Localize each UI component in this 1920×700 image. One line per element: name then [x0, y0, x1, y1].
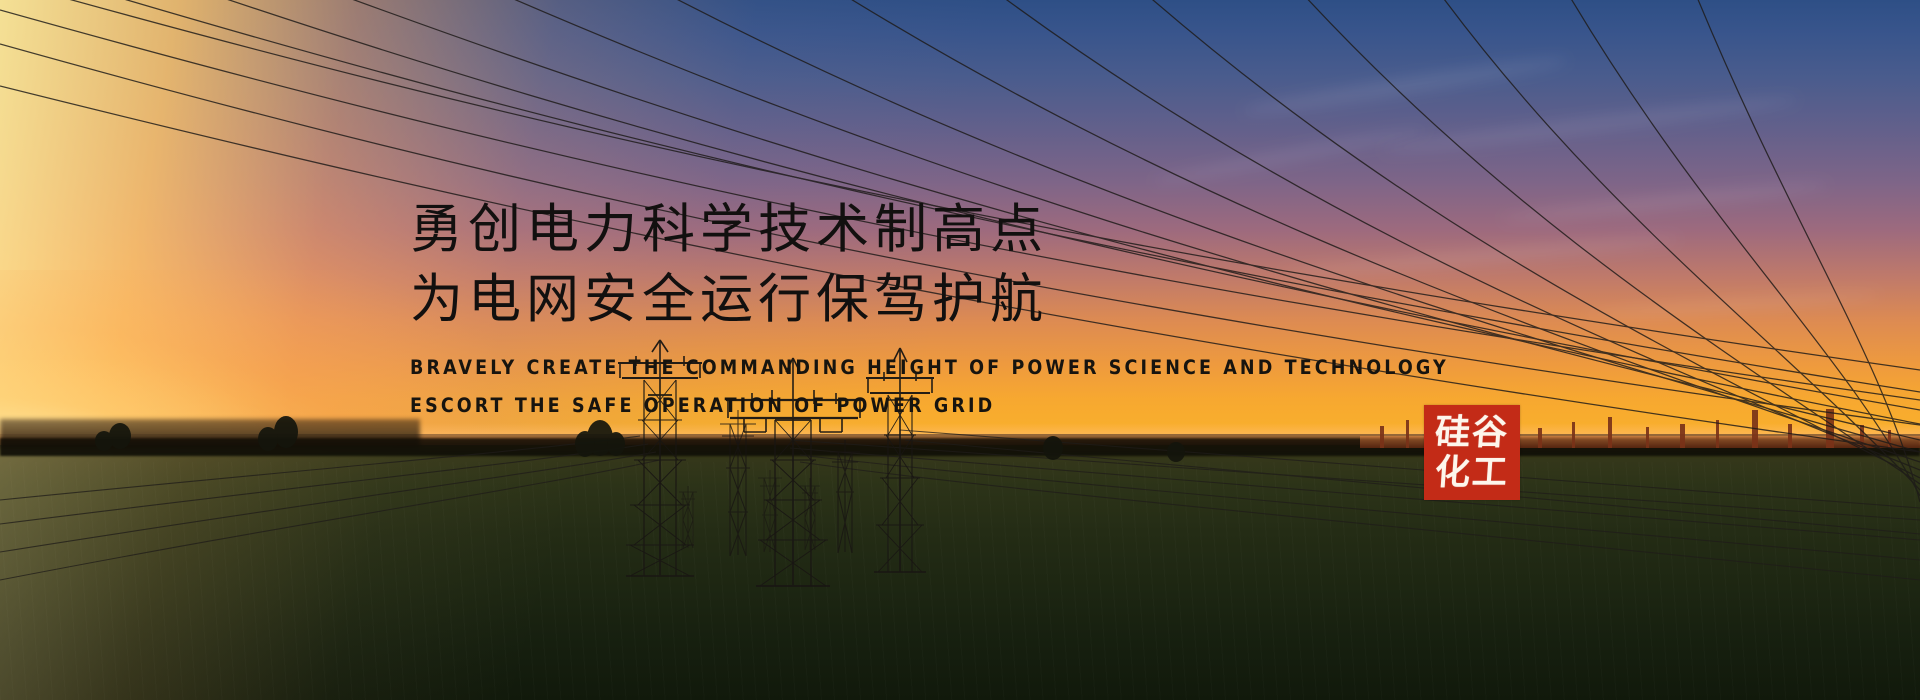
company-seal-logo: 硅谷 化工: [1424, 405, 1520, 500]
refinery-stack: [1608, 417, 1612, 448]
refinery-stack: [1572, 422, 1575, 448]
seal-text-line-1: 硅谷: [1434, 413, 1511, 453]
refinery-stack: [1788, 424, 1792, 448]
headline-cn-line-1: 勇创电力科学技术制高点: [410, 195, 1530, 265]
headline-copy: 勇创电力科学技术制高点 为电网安全运行保驾护航 BRAVELY CREATE T…: [410, 195, 1530, 425]
refinery-stack: [1752, 410, 1758, 448]
hero-banner: 勇创电力科学技术制高点 为电网安全运行保驾护航 BRAVELY CREATE T…: [0, 0, 1920, 700]
refinery-stack: [1888, 430, 1891, 448]
refinery-stack: [1716, 420, 1719, 448]
headline-cn-line-2: 为电网安全运行保驾护航: [410, 265, 1530, 335]
seal-text-line-2: 化工: [1434, 453, 1511, 493]
refinery-stack: [1538, 428, 1542, 448]
refinery-stack: [1646, 427, 1649, 448]
subhead-en-line-2: ESCORT THE SAFE OPERATION OF POWER GRID: [410, 387, 1530, 425]
refinery-stack: [1826, 409, 1834, 448]
subhead-block: BRAVELY CREATE THE COMMANDING HEIGHT OF …: [410, 349, 1530, 425]
subhead-en-line-1: BRAVELY CREATE THE COMMANDING HEIGHT OF …: [410, 349, 1530, 387]
refinery-stack: [1380, 426, 1384, 448]
refinery-stack: [1680, 424, 1685, 448]
refinery-stack: [1860, 425, 1864, 448]
ground-sun-wash: [0, 445, 620, 700]
